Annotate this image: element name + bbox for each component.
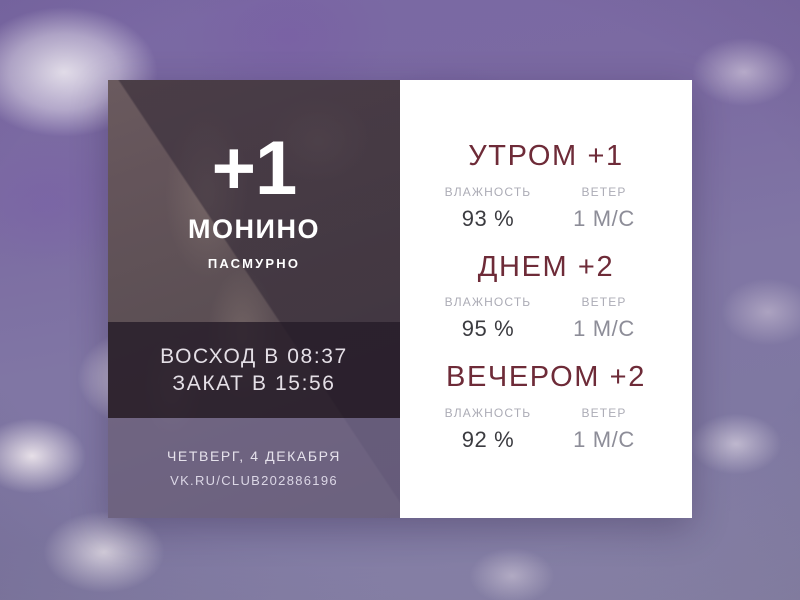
forecast-block-evening: ВЕЧЕРОМ +2 ВЛАЖНОСТЬ 92 % ВЕТЕР 1 М/С — [400, 352, 692, 462]
humidity-cell-morning: ВЛАЖНОСТЬ 93 % — [442, 185, 534, 232]
metrics-row-morning: ВЛАЖНОСТЬ 93 % ВЕТЕР 1 М/С — [442, 185, 650, 232]
card-footer: ЧЕТВЕРГ, 4 ДЕКАБРЯ VK.RU/CLUB202886196 — [108, 418, 400, 518]
sunrise-time: ВОСХОД В 08:37 — [160, 345, 348, 369]
wind-cell-day: ВЕТЕР 1 М/С — [558, 295, 650, 342]
wind-value-day: 1 М/С — [573, 316, 635, 342]
humidity-cell-evening: ВЛАЖНОСТЬ 92 % — [442, 406, 534, 453]
humidity-value-morning: 93 % — [462, 206, 515, 232]
footer-link[interactable]: VK.RU/CLUB202886196 — [170, 473, 338, 488]
metrics-row-day: ВЛАЖНОСТЬ 95 % ВЕТЕР 1 М/С — [442, 295, 650, 342]
wind-value-morning: 1 М/С — [573, 206, 635, 232]
current-summary: +1 МОНИНО ПАСМУРНО — [108, 80, 400, 322]
current-temperature: +1 — [212, 131, 297, 207]
forecast-block-day: ДНЕМ +2 ВЛАЖНОСТЬ 95 % ВЕТЕР 1 М/С — [400, 242, 692, 352]
wind-label: ВЕТЕР — [581, 406, 626, 420]
forecast-title-morning: УТРОМ +1 — [468, 140, 623, 173]
wind-value-evening: 1 М/С — [573, 427, 635, 453]
forecast-block-morning: УТРОМ +1 ВЛАЖНОСТЬ 93 % ВЕТЕР 1 М/С — [400, 131, 692, 241]
sunset-time: ЗАКАТ В 15:56 — [172, 372, 335, 396]
humidity-value-day: 95 % — [462, 316, 515, 342]
weather-condition: ПАСМУРНО — [208, 256, 300, 271]
sun-times-band: ВОСХОД В 08:37 ЗАКАТ В 15:56 — [108, 322, 400, 418]
humidity-label: ВЛАЖНОСТЬ — [445, 185, 532, 199]
current-conditions-panel: +1 МОНИНО ПАСМУРНО ВОСХОД В 08:37 ЗАКАТ … — [108, 80, 400, 518]
metrics-row-evening: ВЛАЖНОСТЬ 92 % ВЕТЕР 1 М/С — [442, 406, 650, 453]
wind-cell-evening: ВЕТЕР 1 М/С — [558, 406, 650, 453]
wind-cell-morning: ВЕТЕР 1 М/С — [558, 185, 650, 232]
humidity-label: ВЛАЖНОСТЬ — [445, 406, 532, 420]
humidity-label: ВЛАЖНОСТЬ — [445, 295, 532, 309]
wind-label: ВЕТЕР — [581, 185, 626, 199]
footer-date: ЧЕТВЕРГ, 4 ДЕКАБРЯ — [167, 448, 341, 464]
wind-label: ВЕТЕР — [581, 295, 626, 309]
forecast-title-day: ДНЕМ +2 — [478, 251, 614, 284]
humidity-value-evening: 92 % — [462, 427, 515, 453]
forecast-panel: УТРОМ +1 ВЛАЖНОСТЬ 93 % ВЕТЕР 1 М/С ДНЕМ… — [400, 80, 692, 518]
humidity-cell-day: ВЛАЖНОСТЬ 95 % — [442, 295, 534, 342]
weather-card: +1 МОНИНО ПАСМУРНО ВОСХОД В 08:37 ЗАКАТ … — [108, 80, 692, 518]
city-name: МОНИНО — [188, 215, 320, 245]
forecast-title-evening: ВЕЧЕРОМ +2 — [446, 361, 646, 394]
